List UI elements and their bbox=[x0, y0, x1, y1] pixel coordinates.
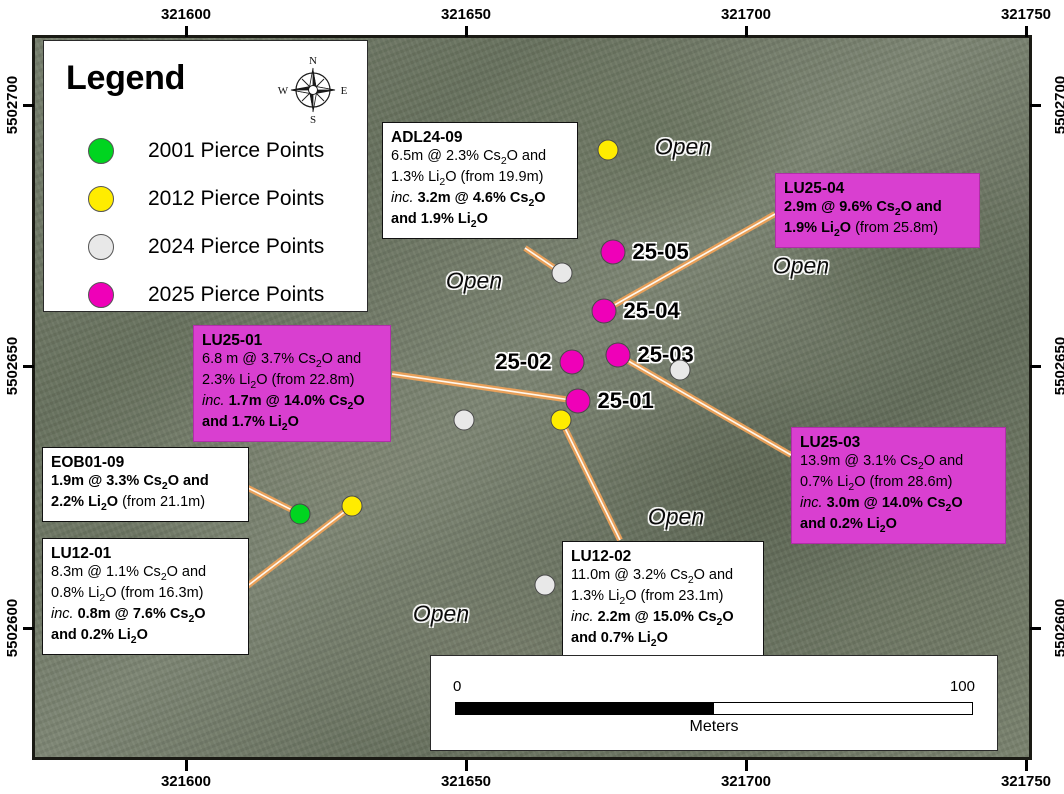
callout-hole-id: LU25-01 bbox=[202, 331, 382, 350]
scale-bar-max-label: 100 bbox=[950, 678, 975, 695]
callout-text-line: 11.0m @ 3.2% Cs2O and bbox=[571, 567, 755, 588]
north-arrow-e: E bbox=[341, 85, 348, 97]
callout-hole-id: LU25-04 bbox=[784, 179, 971, 198]
callout-text-line: 1.3% Li2O (from 23.1m) bbox=[571, 588, 755, 609]
x-axis-tick-bottom bbox=[1025, 760, 1028, 771]
legend-title: Legend bbox=[66, 59, 185, 98]
y-axis-tick-left bbox=[23, 627, 34, 630]
callout-text-line: 8.3m @ 1.1% Cs2O and bbox=[51, 564, 240, 585]
callout-text-line: and 1.7% Li2O bbox=[202, 414, 382, 435]
callout-hole-id: ADL24-09 bbox=[391, 128, 569, 147]
y-axis-tick-right bbox=[1030, 365, 1041, 368]
callout-text-line: inc. 2.2m @ 15.0% Cs2O bbox=[571, 609, 755, 630]
y-axis-label-left-5502600: 5502600 bbox=[4, 599, 21, 657]
legend-item-label: 2024 Pierce Points bbox=[148, 235, 324, 259]
callout-hole-id: LU25-03 bbox=[800, 433, 997, 452]
scale-bar-panel: 0 100 Meters bbox=[430, 655, 998, 751]
legend-item-label: 2001 Pierce Points bbox=[148, 139, 324, 163]
north-arrow-w: W bbox=[278, 85, 289, 97]
north-arrow-s: S bbox=[310, 114, 316, 125]
scale-bar-min-label: 0 bbox=[453, 678, 461, 695]
x-axis-label-bottom-321600: 321600 bbox=[161, 773, 211, 790]
legend-item-2025: 2025 Pierce Points bbox=[66, 271, 352, 319]
legend-item-label: 2025 Pierce Points bbox=[148, 283, 324, 307]
legend-items: 2001 Pierce Points2012 Pierce Points2024… bbox=[66, 127, 352, 319]
x-axis-tick-top bbox=[1025, 26, 1028, 37]
y-axis-label-right-5502600: 5502600 bbox=[1052, 599, 1064, 657]
circle-marker-icon bbox=[88, 234, 114, 260]
callout-lu12-01[interactable]: LU12-018.3m @ 1.1% Cs2O and0.8% Li2O (fr… bbox=[42, 538, 249, 655]
callout-eob01-09[interactable]: EOB01-091.9m @ 3.3% Cs2O and2.2% Li2O (f… bbox=[42, 447, 249, 522]
legend-item-2012: 2012 Pierce Points bbox=[66, 175, 352, 223]
callout-lu12-02[interactable]: LU12-0211.0m @ 3.2% Cs2O and1.3% Li2O (f… bbox=[562, 541, 764, 658]
callout-text-line: and 0.2% Li2O bbox=[51, 627, 240, 648]
callout-text-line: 2.2% Li2O (from 21.1m) bbox=[51, 494, 240, 515]
x-axis-tick-bottom bbox=[745, 760, 748, 771]
callout-text-line: and 1.9% Li2O bbox=[391, 211, 569, 232]
legend-item-label: 2012 Pierce Points bbox=[148, 187, 324, 211]
callout-text-line: 0.8% Li2O (from 16.3m) bbox=[51, 585, 240, 606]
callout-text-line: 6.5m @ 2.3% Cs2O and bbox=[391, 148, 569, 169]
y-axis-tick-left bbox=[23, 365, 34, 368]
map-figure: 25-0525-0425-0325-0225-01 OpenOpenOpenOp… bbox=[0, 0, 1064, 794]
circle-marker-icon bbox=[88, 282, 114, 308]
callout-text-line: 1.9m @ 3.3% Cs2O and bbox=[51, 473, 240, 494]
callout-text-line: 0.7% Li2O (from 28.6m) bbox=[800, 474, 997, 495]
y-axis-label-right-5502700: 5502700 bbox=[1052, 76, 1064, 134]
callout-hole-id: LU12-02 bbox=[571, 547, 755, 566]
callout-text-line: inc. 0.8m @ 7.6% Cs2O bbox=[51, 606, 240, 627]
y-axis-label-left-5502700: 5502700 bbox=[4, 76, 21, 134]
x-axis-tick-bottom bbox=[465, 760, 468, 771]
callout-text-line: 1.9% Li2O (from 25.8m) bbox=[784, 220, 971, 241]
callout-text-line: and 0.2% Li2O bbox=[800, 516, 997, 537]
y-axis-tick-right bbox=[1030, 104, 1041, 107]
x-axis-label-top-321650: 321650 bbox=[441, 6, 491, 23]
x-axis-tick-top bbox=[185, 26, 188, 37]
callout-lu25-04[interactable]: LU25-042.9m @ 9.6% Cs2O and1.9% Li2O (fr… bbox=[775, 173, 980, 248]
x-axis-tick-bottom bbox=[185, 760, 188, 771]
callout-text-line: 13.9m @ 3.1% Cs2O and bbox=[800, 453, 997, 474]
x-axis-label-top-321750: 321750 bbox=[1001, 6, 1051, 23]
y-axis-label-right-5502650: 5502650 bbox=[1052, 337, 1064, 395]
scale-bar-graphic bbox=[455, 702, 973, 715]
callout-adl24-09[interactable]: ADL24-096.5m @ 2.3% Cs2O and1.3% Li2O (f… bbox=[382, 122, 578, 239]
callout-text-line: inc. 3.0m @ 14.0% Cs2O bbox=[800, 495, 997, 516]
legend-panel: Legend bbox=[43, 40, 368, 312]
y-axis-label-left-5502650: 5502650 bbox=[4, 337, 21, 395]
legend-item-2001: 2001 Pierce Points bbox=[66, 127, 352, 175]
callout-hole-id: EOB01-09 bbox=[51, 453, 240, 472]
x-axis-tick-top bbox=[745, 26, 748, 37]
callout-text-line: 2.9m @ 9.6% Cs2O and bbox=[784, 199, 971, 220]
callout-text-line: inc. 1.7m @ 14.0% Cs2O bbox=[202, 393, 382, 414]
x-axis-tick-top bbox=[465, 26, 468, 37]
x-axis-label-bottom-321700: 321700 bbox=[721, 773, 771, 790]
circle-marker-icon bbox=[88, 138, 114, 164]
x-axis-label-top-321600: 321600 bbox=[161, 6, 211, 23]
scale-bar-units-label: Meters bbox=[431, 718, 997, 736]
callout-text-line: inc. 3.2m @ 4.6% Cs2O bbox=[391, 190, 569, 211]
circle-marker-icon bbox=[88, 186, 114, 212]
x-axis-label-bottom-321650: 321650 bbox=[441, 773, 491, 790]
y-axis-tick-right bbox=[1030, 627, 1041, 630]
callout-text-line: 2.3% Li2O (from 22.8m) bbox=[202, 372, 382, 393]
x-axis-label-top-321700: 321700 bbox=[721, 6, 771, 23]
callout-hole-id: LU12-01 bbox=[51, 544, 240, 563]
legend-item-2024: 2024 Pierce Points bbox=[66, 223, 352, 271]
y-axis-tick-left bbox=[23, 104, 34, 107]
callout-text-line: and 0.7% Li2O bbox=[571, 630, 755, 651]
north-arrow-n: N bbox=[309, 55, 317, 67]
callout-lu25-01[interactable]: LU25-016.8 m @ 3.7% Cs2O and2.3% Li2O (f… bbox=[193, 325, 391, 442]
north-arrow-icon: N S E W bbox=[277, 53, 349, 125]
callout-lu25-03[interactable]: LU25-0313.9m @ 3.1% Cs2O and0.7% Li2O (f… bbox=[791, 427, 1006, 544]
callout-text-line: 1.3% Li2O (from 19.9m) bbox=[391, 169, 569, 190]
callout-text-line: 6.8 m @ 3.7% Cs2O and bbox=[202, 351, 382, 372]
x-axis-label-bottom-321750: 321750 bbox=[1001, 773, 1051, 790]
scale-bar-filled-half bbox=[456, 703, 714, 714]
